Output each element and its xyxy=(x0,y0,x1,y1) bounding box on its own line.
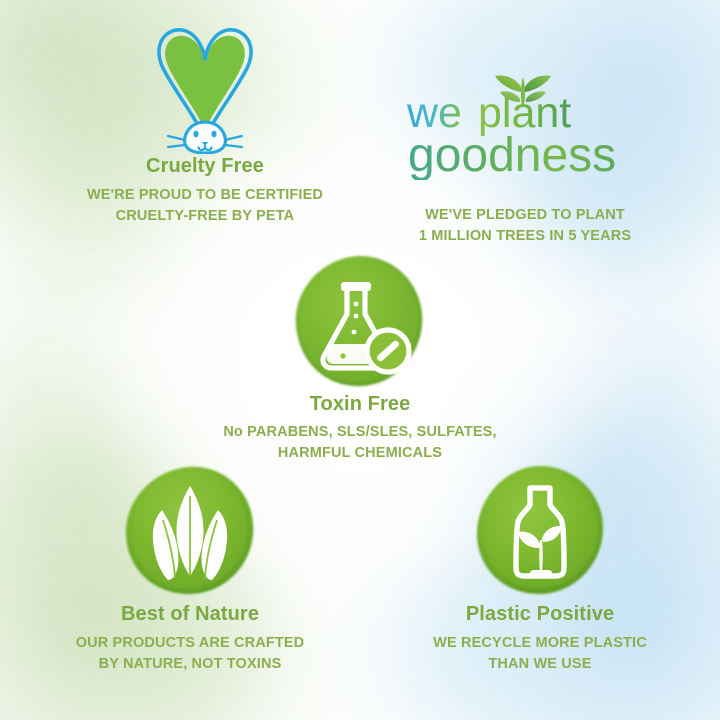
we-plant-goodness-logo: we plant goodness xyxy=(345,70,705,180)
badge-title: Cruelty Free xyxy=(15,154,395,178)
badge-we-plant-goodness: we plant goodness WE'VE PLEDGED TO PLANT… xyxy=(345,70,705,247)
svg-text:goodness: goodness xyxy=(408,129,616,180)
badge-description: No PARABENS, SLS/SLES, SULFATES, HARMFUL… xyxy=(180,422,540,464)
badge-description: WE RECYCLE MORE PLASTIC THAN WE USE xyxy=(370,633,710,675)
badge-description: WE'VE PLEDGED TO PLANT 1 MILLION TREES I… xyxy=(345,205,705,247)
three-leaves-icon xyxy=(10,462,370,602)
flask-no-entry-icon xyxy=(180,252,540,392)
badge-description: WE'RE PROUD TO BE CERTIFIED CRUELTY-FREE… xyxy=(15,185,395,227)
badge-cruelty-free: Cruelty Free WE'RE PROUD TO BE CERTIFIED… xyxy=(15,22,395,227)
badge-title: Best of Nature xyxy=(10,602,370,626)
badge-title: Toxin Free xyxy=(180,392,540,416)
badge-description: OUR PRODUCTS ARE CRAFTED BY NATURE, NOT … xyxy=(10,633,370,675)
badge-toxin-free: Toxin Free No PARABENS, SLS/SLES, SULFAT… xyxy=(180,252,540,464)
bottle-sprout-icon xyxy=(370,462,710,602)
badge-title: Plastic Positive xyxy=(370,602,710,626)
peta-bunny-heart-icon xyxy=(15,22,395,154)
badge-plastic-positive: Plastic Positive WE RECYCLE MORE PLASTIC… xyxy=(370,462,710,675)
badges-container: Cruelty Free WE'RE PROUD TO BE CERTIFIED… xyxy=(0,0,720,720)
badge-best-of-nature: Best of Nature OUR PRODUCTS ARE CRAFTED … xyxy=(10,462,370,675)
eco-claims-poster: Cruelty Free WE'RE PROUD TO BE CERTIFIED… xyxy=(0,0,720,720)
